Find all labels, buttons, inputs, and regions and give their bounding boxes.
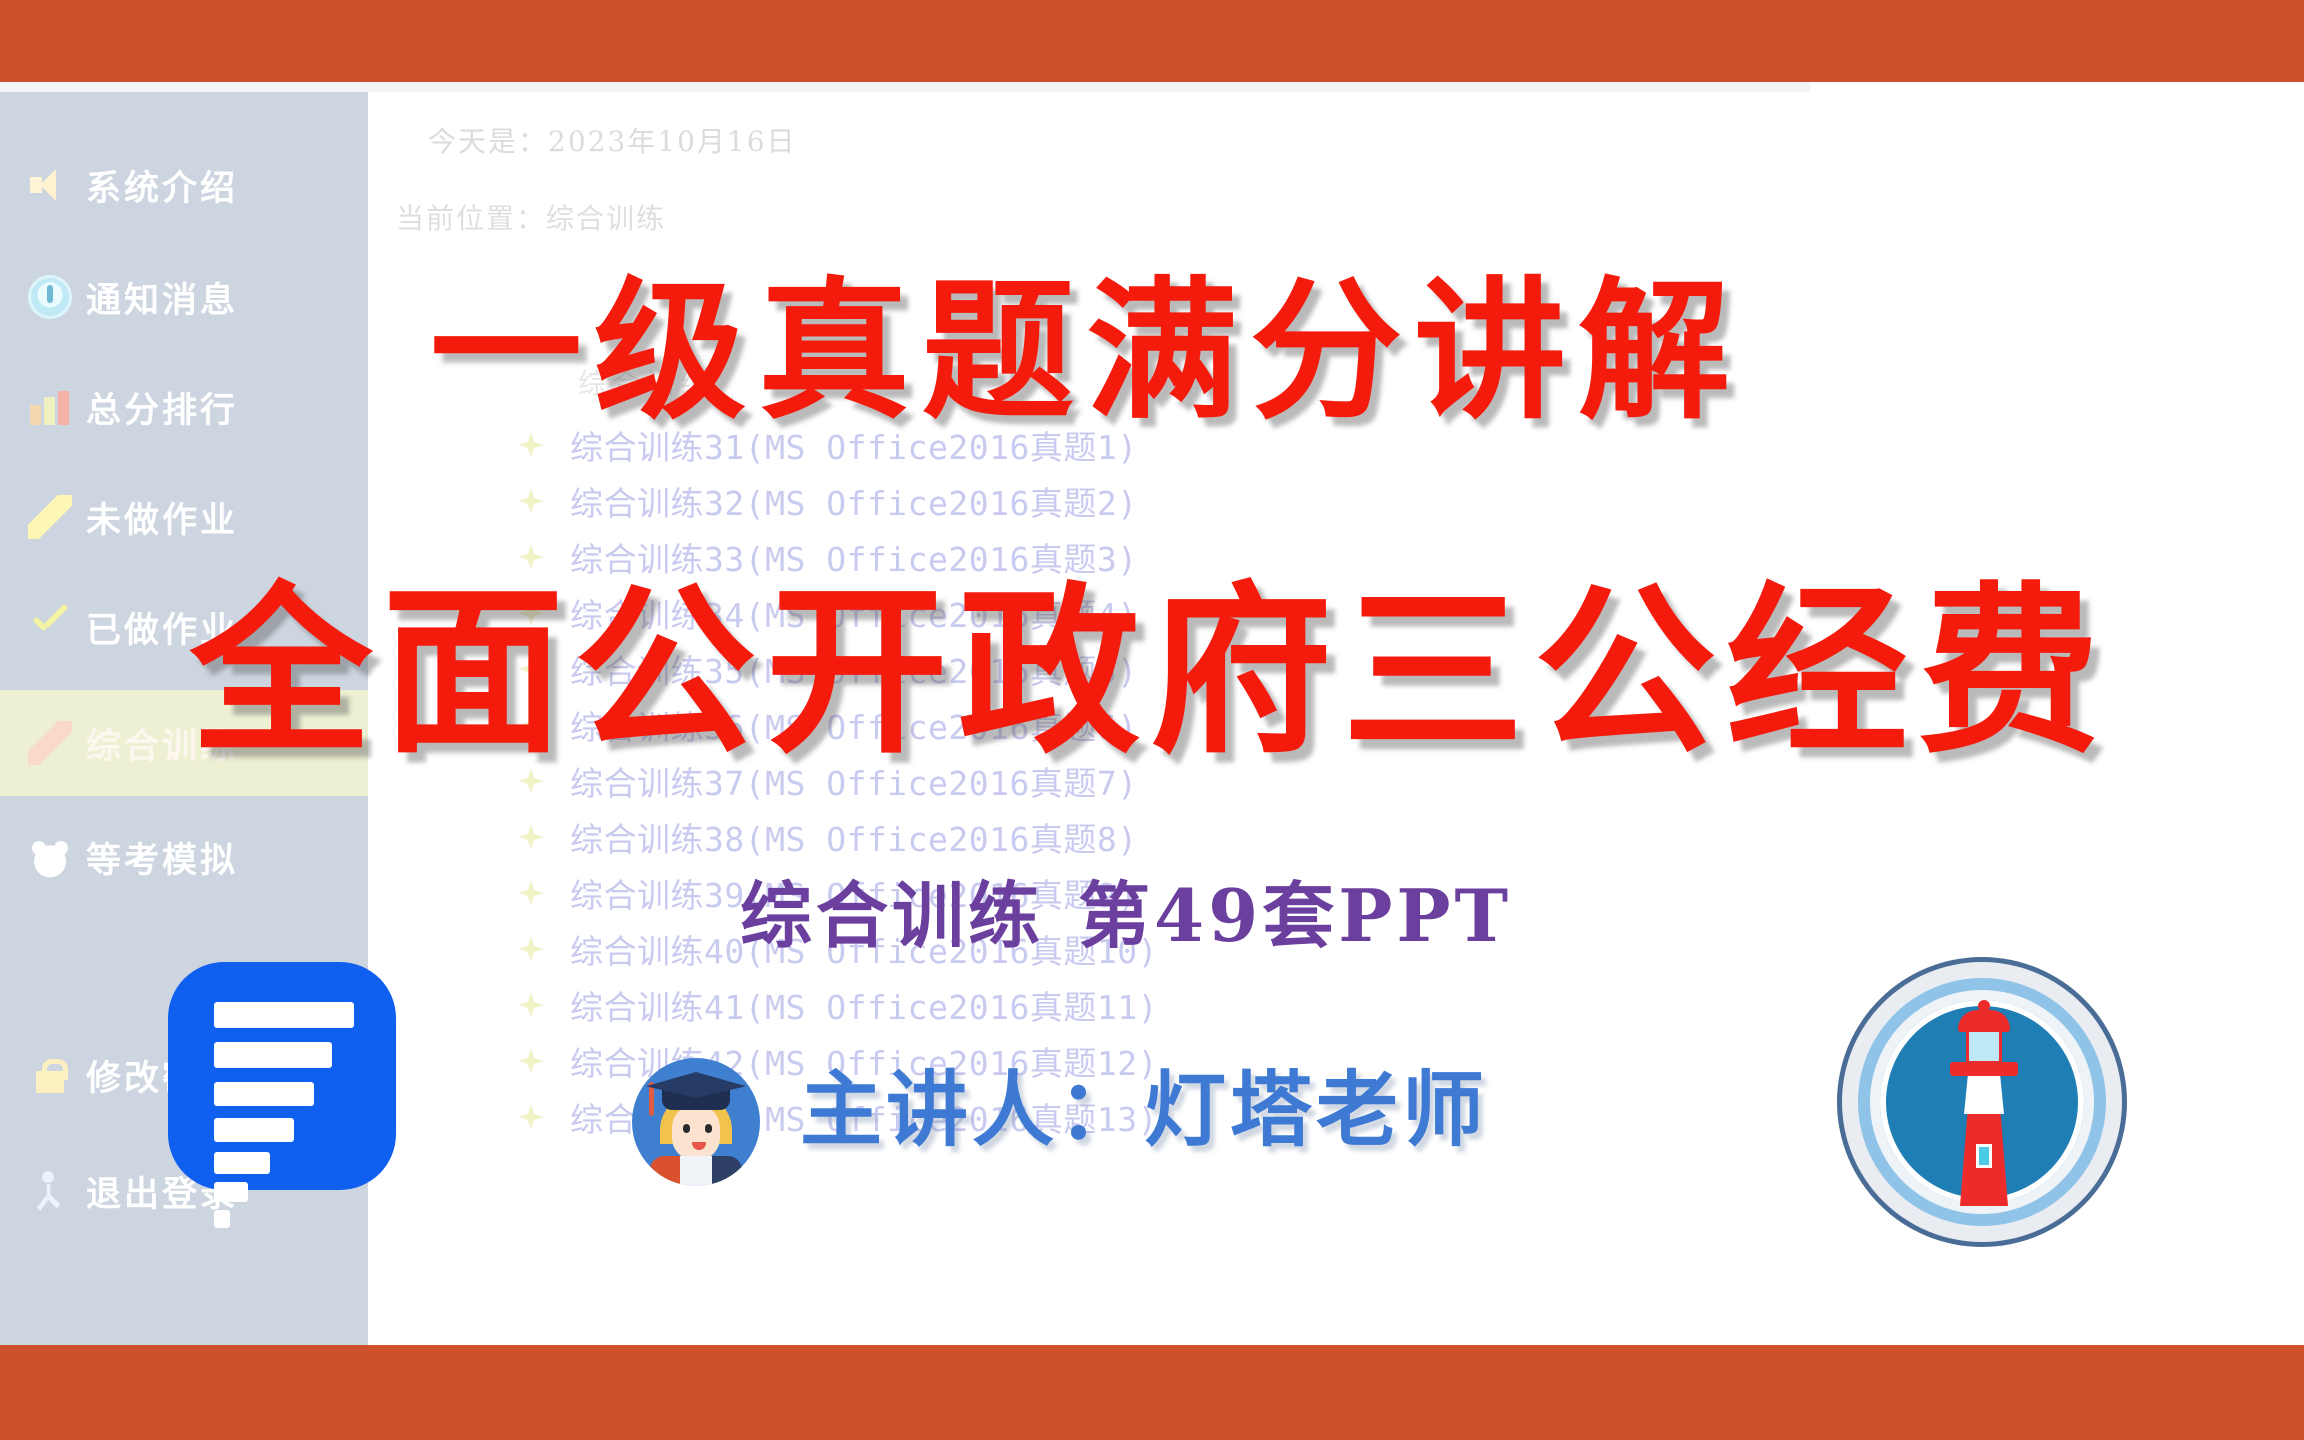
page-title: 综合训练 <box>578 362 714 402</box>
breadcrumb: 当前位置：综合训练 <box>396 197 666 237</box>
list-item[interactable]: 综合训练43(MS Office2016真题13) <box>518 1089 2018 1145</box>
list-item-label: 综合训练41(MS Office2016真题11) <box>570 981 1158 1029</box>
list-item[interactable]: 综合训练39(MS Office2016真题9) <box>518 865 2018 921</box>
sidebar-item-label: 已做作业 <box>86 602 238 653</box>
sidebar-item-label: 未做作业 <box>86 492 238 543</box>
sidebar-item-label: 修改密码 <box>86 1050 238 1101</box>
list-item-label: 综合训练40(MS Office2016真题10) <box>570 925 1158 973</box>
list-item[interactable]: 综合训练34(MS Office2016真题4) <box>518 585 2018 641</box>
sidebar-item-score-ranking[interactable]: 总分排行 <box>0 354 368 460</box>
list-item-label: 综合训练42(MS Office2016真题12) <box>570 1037 1158 1085</box>
pencil-icon <box>28 495 72 539</box>
video-frame: 系统介绍 通知消息 总分排行 未做作业 已做作业 综合训练 <box>0 0 2304 1440</box>
list-item-label: 综合训练37(MS Office2016真题7) <box>570 757 1138 805</box>
main-content: 今天是：2023年10月16日 当前位置：综合训练 综合训练 综合训练31(MS… <box>368 92 2304 1345</box>
list-item[interactable]: 综合训练40(MS Office2016真题10) <box>518 921 2018 977</box>
bottom-color-band <box>0 1345 2304 1440</box>
sidebar-item-label: 退出登录 <box>86 1166 238 1217</box>
star-bullet-icon <box>518 656 544 682</box>
list-item[interactable]: 综合训练31(MS Office2016真题1) <box>518 417 2018 473</box>
exit-icon <box>28 1169 72 1213</box>
current-date: 今天是：2023年10月16日 <box>428 120 797 160</box>
sidebar-item-notifications[interactable]: 通知消息 <box>0 244 368 350</box>
bar-chart-icon <box>28 385 72 429</box>
sidebar-item-label: 等考模拟 <box>86 832 238 883</box>
list-item[interactable]: 综合训练38(MS Office2016真题8) <box>518 809 2018 865</box>
check-icon <box>28 605 72 649</box>
list-item[interactable]: 综合训练32(MS Office2016真题2) <box>518 473 2018 529</box>
sidebar-item-label: 系统介绍 <box>86 160 238 211</box>
list-item[interactable]: 综合训练35(MS Office2016真题5) <box>518 641 2018 697</box>
top-color-band <box>0 0 2304 82</box>
sidebar-item-change-password[interactable]: 修改密码 <box>0 1022 368 1128</box>
star-bullet-icon <box>518 1048 544 1074</box>
star-bullet-icon <box>518 936 544 962</box>
sidebar-item-logout[interactable]: 退出登录 <box>0 1138 368 1244</box>
sidebar-item-label: 总分排行 <box>86 382 238 433</box>
star-bullet-icon <box>518 600 544 626</box>
star-bullet-icon <box>518 544 544 570</box>
sidebar: 系统介绍 通知消息 总分排行 未做作业 已做作业 综合训练 <box>0 92 368 1345</box>
training-task-list: 综合训练31(MS Office2016真题1) 综合训练32(MS Offic… <box>518 417 2018 1145</box>
sidebar-item-label: 综合训练 <box>86 718 238 769</box>
sidebar-item-exam-simulation[interactable]: 等考模拟 <box>0 804 368 910</box>
star-bullet-icon <box>518 712 544 738</box>
list-item-label: 综合训练34(MS Office2016真题4) <box>570 589 1138 637</box>
list-item[interactable]: 综合训练33(MS Office2016真题3) <box>518 529 2018 585</box>
list-item-label: 综合训练32(MS Office2016真题2) <box>570 477 1138 525</box>
speaker-icon <box>28 163 72 207</box>
list-item-label: 综合训练33(MS Office2016真题3) <box>570 533 1138 581</box>
star-bullet-icon <box>518 768 544 794</box>
list-item[interactable]: 综合训练42(MS Office2016真题12) <box>518 1033 2018 1089</box>
star-bullet-icon <box>518 880 544 906</box>
star-bullet-icon <box>518 488 544 514</box>
star-bullet-icon <box>518 1104 544 1130</box>
sidebar-item-label: 通知消息 <box>86 272 238 323</box>
sidebar-item-done-homework[interactable]: 已做作业 <box>0 574 368 680</box>
star-bullet-icon <box>518 824 544 850</box>
web-app-screenshot: 系统介绍 通知消息 总分排行 未做作业 已做作业 综合训练 <box>0 92 2304 1345</box>
sidebar-item-system-intro[interactable]: 系统介绍 <box>0 132 368 238</box>
list-item-label: 综合训练38(MS Office2016真题8) <box>570 813 1138 861</box>
list-item-label: 综合训练43(MS Office2016真题13) <box>570 1093 1158 1141</box>
list-item[interactable]: 综合训练36(MS Office2016真题6) <box>518 697 2018 753</box>
sidebar-item-comprehensive-training[interactable]: 综合训练 <box>0 690 368 796</box>
star-bullet-icon <box>518 992 544 1018</box>
pencil-orange-icon <box>28 721 72 765</box>
bell-icon <box>28 275 72 319</box>
list-item-label: 综合训练39(MS Office2016真题9) <box>570 869 1138 917</box>
star-bullet-icon <box>518 432 544 458</box>
lock-icon <box>28 1053 72 1097</box>
sidebar-item-undone-homework[interactable]: 未做作业 <box>0 464 368 570</box>
list-item-label: 综合训练36(MS Office2016真题6) <box>570 701 1138 749</box>
mask-icon <box>28 835 72 879</box>
list-item[interactable]: 综合训练37(MS Office2016真题7) <box>518 753 2018 809</box>
list-item[interactable]: 综合训练41(MS Office2016真题11) <box>518 977 2018 1033</box>
list-item-label: 综合训练31(MS Office2016真题1) <box>570 421 1138 469</box>
list-item-label: 综合训练35(MS Office2016真题5) <box>570 645 1138 693</box>
